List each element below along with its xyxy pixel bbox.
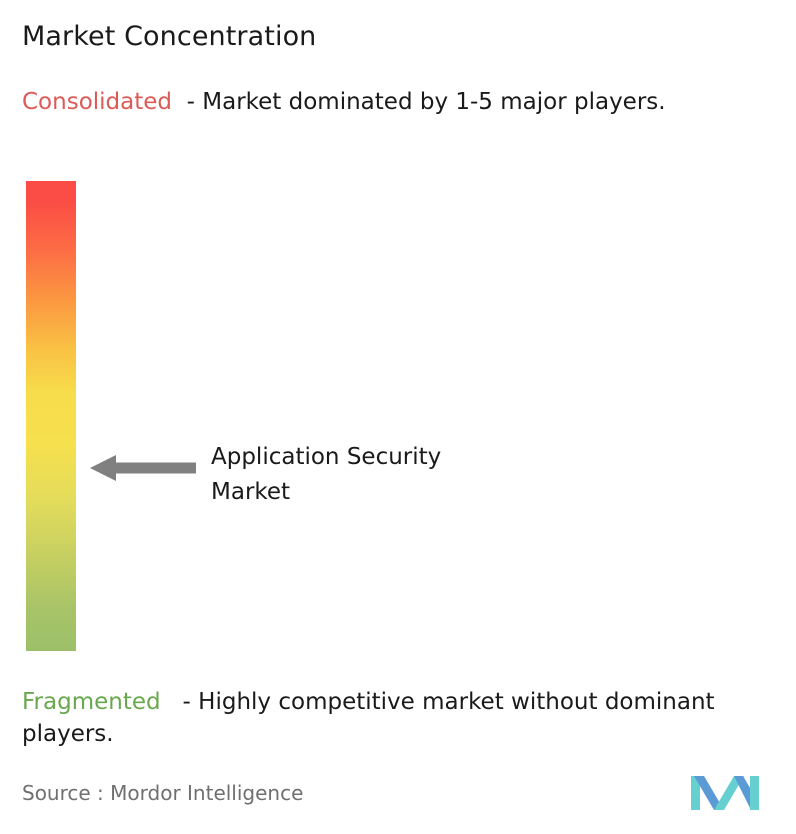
legend-fragmented-key: Fragmented: [22, 689, 161, 715]
callout-label: Application Security Market: [211, 440, 551, 510]
legend-consolidated-separator: -: [187, 89, 195, 115]
source-label: Source :: [22, 781, 104, 805]
legend-fragmented: Fragmented - Highly competitive market w…: [22, 686, 784, 750]
page-title: Market Concentration: [22, 20, 316, 54]
source-value: Mordor Intelligence: [110, 781, 303, 805]
legend-consolidated-key: Consolidated: [22, 89, 172, 115]
mordor-intelligence-logo-icon: [691, 772, 759, 814]
legend-consolidated-description: Market dominated by 1-5 major players.: [202, 89, 665, 115]
legend-fragmented-separator: -: [183, 689, 191, 715]
market-concentration-infographic: Market Concentration Consolidated - Mark…: [0, 0, 796, 834]
legend-consolidated: Consolidated - Market dominated by 1-5 m…: [22, 86, 770, 118]
callout-label-line1: Application Security: [211, 440, 551, 475]
callout-arrow-icon: [90, 452, 196, 484]
callout-label-line2: Market: [211, 475, 551, 510]
source-line: Source : Mordor Intelligence: [22, 780, 303, 806]
concentration-gradient-bar: [26, 181, 76, 651]
